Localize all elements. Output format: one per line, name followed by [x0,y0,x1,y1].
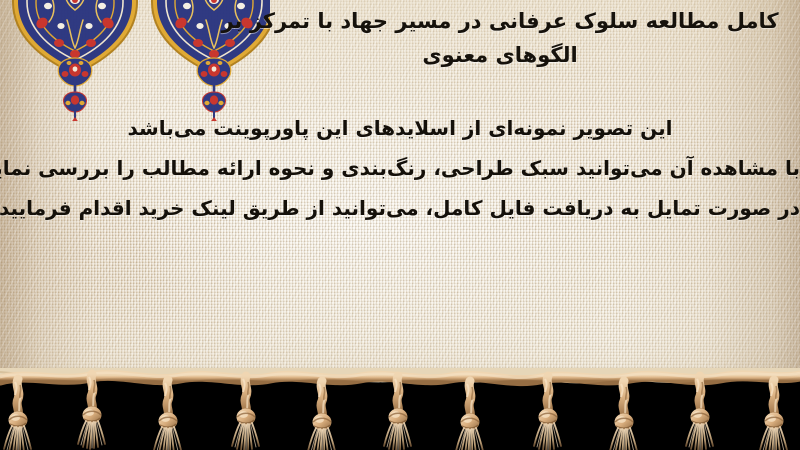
slide-text-layer: کامل مطالعه سلوک عرفانی در مسیر جهاد با … [0,0,800,378]
slide-title-line-1: کامل مطالعه سلوک عرفانی در مسیر جهاد با … [221,9,778,33]
slide-title-line-2: الگوهای معنوی [422,43,577,67]
carpet-knotted-fringe-icon [0,368,800,450]
body-line-2: با مشاهده آن می‌توانید سبک طراحی، رنگ‌بن… [0,148,800,188]
slide-title: کامل مطالعه سلوک عرفانی در مسیر جهاد با … [220,4,780,72]
body-line-1: این تصویر نمونه‌ای از اسلایدهای این پاور… [0,108,800,148]
body-line-3: در صورت تمایل به دریافت فایل کامل، می‌تو… [0,188,800,228]
slide-canvas: کامل مطالعه سلوک عرفانی در مسیر جهاد با … [0,0,800,450]
bottom-fringe-band [0,368,800,450]
slide-body: این تصویر نمونه‌ای از اسلایدهای این پاور… [0,108,800,228]
